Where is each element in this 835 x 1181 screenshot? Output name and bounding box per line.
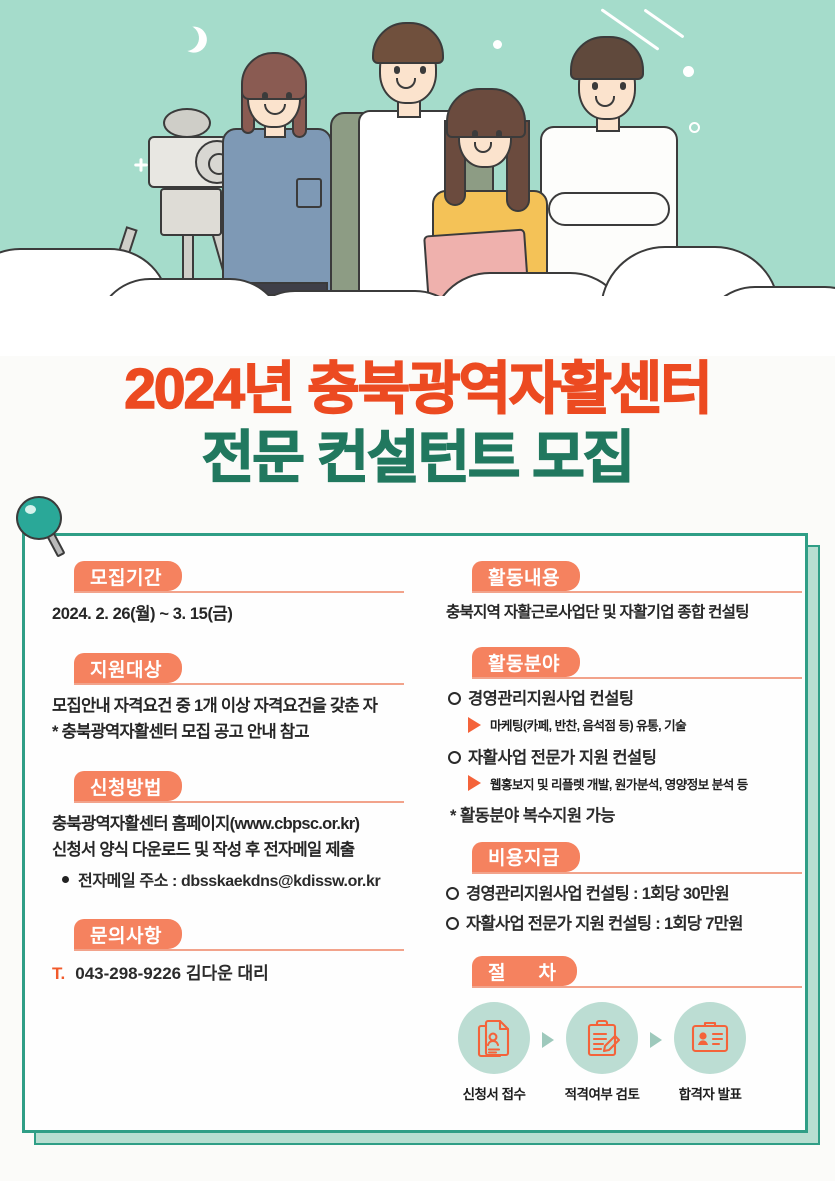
poster-root: 2024년 충북광역자활센터 전문 컨설턴트 모집 모집기간 2024. 2. … [0,0,835,1181]
activity-field-item-title: 자활사업 전문가 지원 컨설팅 [468,746,656,771]
activity-field-note: * 활동분야 복수지원 가능 [438,802,794,826]
payment-item: 자활사업 전문가 지원 컨설팅 : 1회당 7만원 [438,912,794,937]
poster-title: 2024년 충북광역자활센터 전문 컨설턴트 모집 [0,356,835,493]
recruitment-period-value: 2024. 2. 26(월) ~ 3. 15(금) [40,601,420,627]
id-card-icon [674,1002,746,1074]
activity-field-item: 자활사업 전문가 지원 컨설팅 [438,746,794,771]
activity-field-subitem: 웹홍보지 및 리플렛 개발, 원가분석, 영양정보 분석 등 [438,774,794,793]
arrow-right-icon [542,1032,554,1048]
circle-outline-icon [689,122,700,133]
arrow-right-icon [650,1032,662,1048]
payment-item-text: 자활사업 전문가 지원 컨설팅 : 1회당 7만원 [466,912,743,937]
telephone-icon: T. [52,964,65,984]
star-dot-icon [683,66,694,77]
bullet-dot-icon [62,876,69,883]
divider [472,872,802,874]
section-label-activity-content: 활동내용 [472,561,580,591]
section-label-activity-field: 활동분야 [472,647,580,677]
procedure-step: 합격자 발표 [664,1002,756,1103]
inquiry-phone-row: T. 043-298-9226 김다운 대리 [40,959,420,984]
section-inquiry: 문의사항 T. 043-298-9226 김다운 대리 [40,919,420,984]
section-eligibility: 지원대상 모집안내 자격요건 중 1개 이상 자격요건을 갖춘 자 * 충북광역… [40,653,420,745]
divider [74,683,404,685]
divider [74,591,404,593]
divider [74,801,404,803]
procedure-step-label: 합격자 발표 [664,1083,756,1103]
section-label-payment: 비용지급 [472,842,580,872]
activity-field-subitem-text: 웹홍보지 및 리플렛 개발, 원가분석, 영양정보 분석 등 [490,774,748,793]
procedure-step: 적격여부 검토 [556,1002,648,1103]
title-line-1: 2024년 충북광역자활센터 [0,356,835,423]
left-column: 모집기간 2024. 2. 26(월) ~ 3. 15(금) 지원대상 모집안내… [22,533,430,1133]
divider [472,591,802,593]
payment-item-text: 경영관리지원사업 컨설팅 : 1회당 30만원 [466,882,729,907]
section-label-recruitment-period: 모집기간 [74,561,182,591]
divider [472,677,802,679]
title-line-2: 전문 컨설턴트 모집 [0,425,835,492]
triangle-bullet-icon [468,717,481,733]
triangle-bullet-icon [468,775,481,791]
documents-person-icon [458,1002,530,1074]
section-activity-content: 활동내용 충북지역 자활근로사업단 및 자활기업 종합 컨설팅 [438,561,794,625]
section-procedure: 절 차 [438,956,794,1103]
section-activity-field: 활동분야 경영관리지원사업 컨설팅 마케팅(카페, 반찬, 음석점 등) 유통,… [438,647,794,826]
procedure-step-label: 적격여부 검토 [556,1083,648,1103]
hero-illustration [0,0,835,356]
section-label-application-method: 신청방법 [74,771,182,801]
eligibility-line-1: 모집안내 자격요건 중 1개 이상 자격요건을 갖춘 자 [40,693,420,719]
activity-field-item-title: 경영관리지원사업 컨설팅 [468,687,634,712]
inquiry-phone-value: 043-298-9226 김다운 대리 [75,959,269,984]
circle-bullet-icon [448,751,461,764]
section-application-method: 신청방법 충북광역자활센터 홈페이지(www.cbpsc.or.kr) 신청서 … [40,771,420,891]
procedure-step-label: 신청서 접수 [448,1083,540,1103]
activity-field-subitem: 마케팅(카페, 반찬, 음석점 등) 유통, 기술 [438,715,794,734]
star-dot-icon [493,40,502,49]
section-label-eligibility: 지원대상 [74,653,182,683]
payment-item: 경영관리지원사업 컨설팅 : 1회당 30만원 [438,882,794,907]
activity-content-value: 충북지역 자활근로사업단 및 자활기업 종합 컨설팅 [438,601,794,625]
activity-field-subitem-text: 마케팅(카페, 반찬, 음석점 등) 유통, 기술 [490,715,686,734]
section-label-procedure: 절 차 [472,956,577,986]
application-line-1: 충북광역자활센터 홈페이지(www.cbpsc.or.kr) [40,811,420,837]
procedure-step: 신청서 접수 [448,1002,540,1103]
section-label-inquiry: 문의사항 [74,919,182,949]
divider [74,949,404,951]
application-email-value: 전자메일 주소 : dbsskaekdns@kdissw.or.kr [78,867,380,891]
eligibility-line-2: * 충북광역자활센터 모집 공고 안내 참고 [40,719,420,745]
activity-field-item: 경영관리지원사업 컨설팅 [438,687,794,712]
section-recruitment-period: 모집기간 2024. 2. 26(월) ~ 3. 15(금) [40,561,420,627]
circle-bullet-icon [448,692,461,705]
section-payment: 비용지급 경영관리지원사업 컨설팅 : 1회당 30만원 자활사업 전문가 지원… [438,842,794,937]
content-columns: 모집기간 2024. 2. 26(월) ~ 3. 15(금) 지원대상 모집안내… [22,533,808,1133]
application-email-row: 전자메일 주소 : dbsskaekdns@kdissw.or.kr [40,867,420,891]
procedure-steps: 신청서 접수 적격여부 검토 [438,1002,794,1103]
divider [472,986,802,988]
application-line-2: 신청서 양식 다운로드 및 작성 후 전자메일 제출 [40,837,420,863]
circle-bullet-icon [446,917,459,930]
circle-bullet-icon [446,887,459,900]
clipboard-pencil-icon [566,1002,638,1074]
sparkle-icon [134,158,148,172]
right-column: 활동내용 충북지역 자활근로사업단 및 자활기업 종합 컨설팅 활동분야 경영관… [430,533,808,1133]
